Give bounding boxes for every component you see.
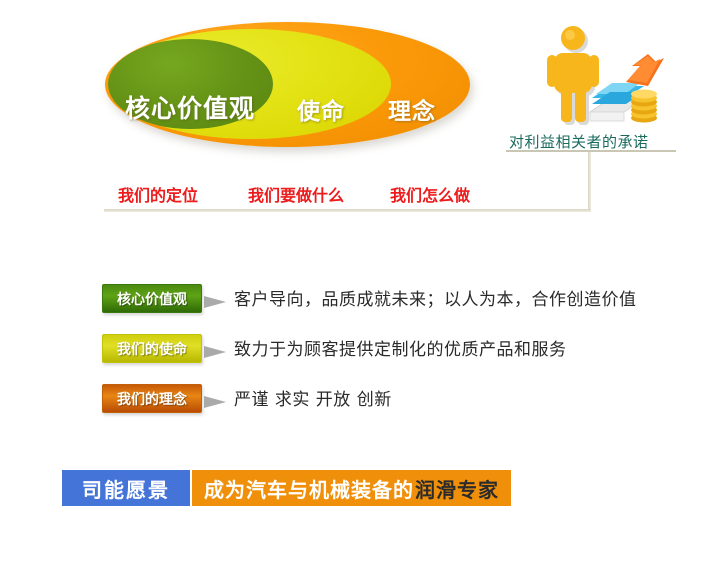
arrow-right-icon [204, 346, 226, 358]
question-label-positioning: 我们的定位 [118, 182, 198, 206]
value-text-idea: 严谨 求实 开放 创新 [234, 385, 392, 410]
arrow-right-icon [204, 396, 226, 408]
value-row-core-values: 核心价值观 客户导向，品质成就未来；以人为本，合作创造价值 [102, 284, 702, 334]
value-rows: 核心价值观 客户导向，品质成就未来；以人为本，合作创造价值 我们的使命 致力于为… [102, 284, 702, 434]
vision-statement-emphasis: 润滑专家 [415, 474, 499, 503]
value-row-idea: 我们的理念 严谨 求实 开放 创新 [102, 384, 702, 434]
person-with-money-icon [528, 22, 678, 137]
value-text-mission: 致力于为顾客提供定制化的优质产品和服务 [234, 335, 567, 360]
ellipse-label-core-values: 核心价值观 [125, 89, 255, 125]
stakeholder-caption: 对利益相关者的承诺 [509, 131, 649, 152]
infographic-canvas: 核心价值观 使命 理念 [0, 0, 718, 563]
badge-mission: 我们的使命 [102, 334, 202, 363]
value-row-mission: 我们的使命 致力于为顾客提供定制化的优质产品和服务 [102, 334, 702, 384]
question-label-how-to-do: 我们怎么做 [390, 182, 470, 206]
nested-ellipse-diagram: 核心价值观 使命 理念 [105, 22, 475, 147]
vision-tag-label: 司能愿景 [62, 470, 192, 506]
value-text-core-values: 客户导向，品质成就未来；以人为本，合作创造价值 [234, 285, 637, 310]
vision-statement: 成为汽车与机械装备的 润滑专家 [192, 470, 511, 506]
ellipse-label-mission: 使命 [297, 92, 345, 126]
vision-bar: 司能愿景 成为汽车与机械装备的 润滑专家 [62, 470, 511, 506]
ellipse-label-idea: 理念 [388, 92, 436, 126]
arrow-right-icon [204, 296, 226, 308]
connector-horizontal-line [104, 209, 591, 212]
vision-statement-prefix: 成为汽车与机械装备的 [204, 474, 414, 503]
question-label-what-to-do: 我们要做什么 [248, 182, 344, 206]
stakeholder-icon-group [528, 22, 678, 137]
badge-idea: 我们的理念 [102, 384, 202, 413]
badge-core-values: 核心价值观 [102, 284, 202, 313]
question-label-row: 我们的定位 我们要做什么 我们怎么做 [104, 182, 604, 204]
